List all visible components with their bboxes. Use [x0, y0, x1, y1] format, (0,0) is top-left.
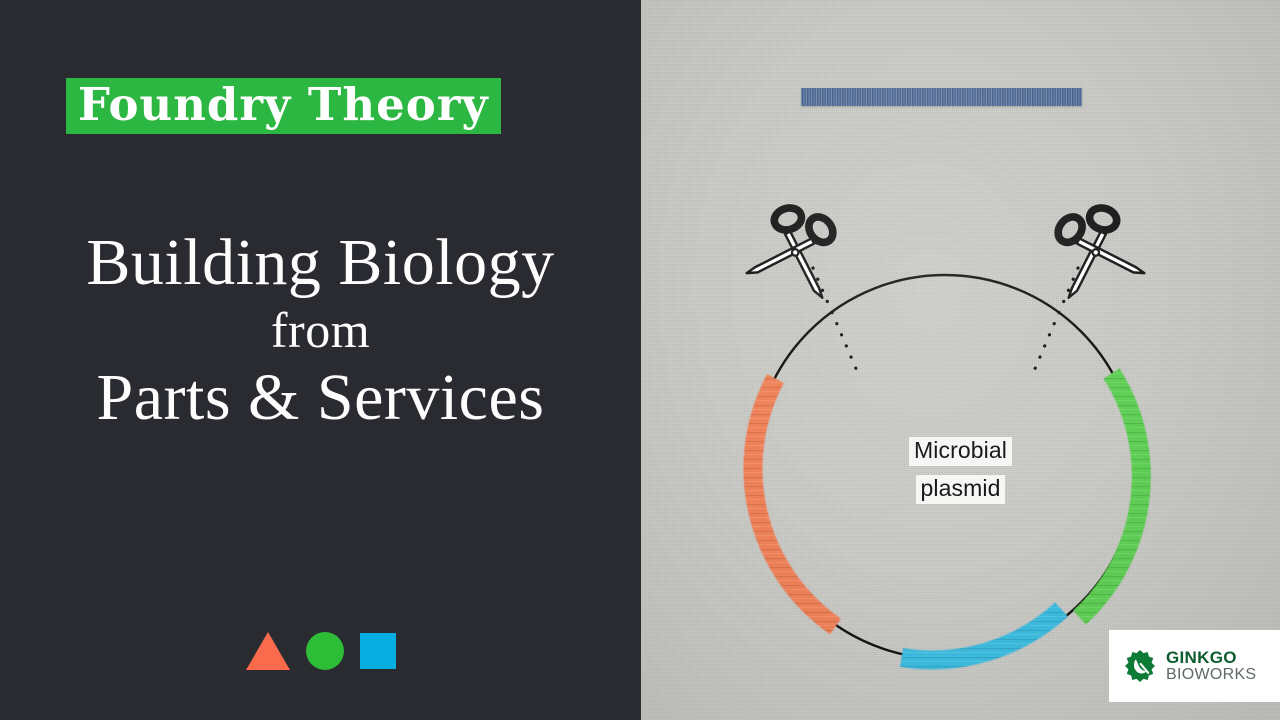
triangle-icon	[246, 632, 290, 670]
title-panel: Foundry Theory Building Biology from Par…	[0, 0, 641, 720]
gene-segment-blue	[902, 610, 1062, 660]
plasmid-diagram	[641, 0, 1280, 720]
gene-segment-orange	[753, 379, 836, 627]
gene-segment-green	[1080, 374, 1142, 618]
eyebrow-series-label: Foundry Theory	[66, 78, 501, 134]
ginkgo-bioworks-logo: GINKGO BIOWORKS	[1109, 630, 1280, 702]
title-line-3: Parts & Services	[0, 361, 641, 435]
illustration-panel: Microbial plasmid GINKGO BIOWORKS	[641, 0, 1280, 720]
scissors-icon	[747, 196, 848, 297]
cut-guide-left	[813, 268, 860, 378]
scissors-icon	[1044, 196, 1145, 297]
brand-shape-row	[0, 632, 641, 670]
square-icon	[360, 633, 396, 669]
eyebrow-text: Foundry Theory	[78, 81, 489, 128]
slide-canvas: Foundry Theory Building Biology from Par…	[0, 0, 1280, 720]
title-line-2: from	[0, 299, 641, 362]
slide-title: Building Biology from Parts & Services	[0, 228, 641, 435]
circle-icon	[306, 632, 344, 670]
ginkgo-subname: BIOWORKS	[1166, 667, 1256, 683]
ginkgo-leaf-mark	[1123, 649, 1157, 683]
eyebrow-highlight-band: Foundry Theory	[66, 78, 501, 134]
ginkgo-name: GINKGO	[1166, 649, 1256, 666]
ginkgo-wordmark: GINKGO BIOWORKS	[1166, 649, 1256, 683]
title-line-1: Building Biology	[0, 228, 641, 299]
